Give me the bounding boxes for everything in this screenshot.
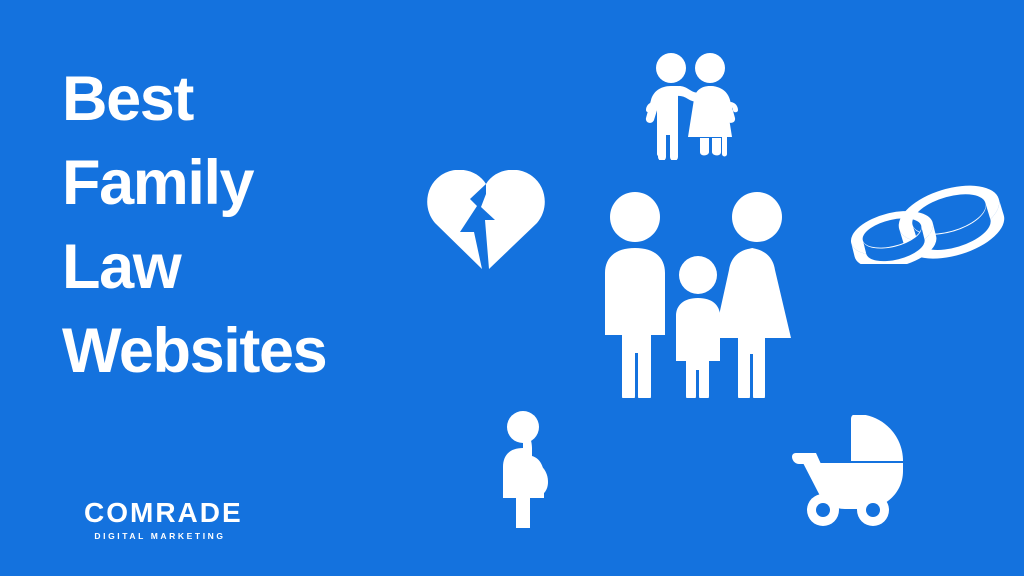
baby-stroller-icon bbox=[787, 415, 903, 527]
broken-heart-icon bbox=[425, 170, 547, 270]
wedding-rings-icon bbox=[845, 176, 1005, 264]
headline-line-1: Best bbox=[62, 57, 422, 141]
logo-wordmark: COMRADE bbox=[84, 498, 234, 528]
page-title: Best Family Law Websites bbox=[62, 57, 422, 393]
headline-line-3: Law bbox=[62, 225, 422, 309]
headline-line-4: Websites bbox=[62, 309, 422, 393]
pregnant-woman-icon bbox=[498, 410, 558, 528]
comrade-logo: COMRADE DIGITAL MARKETING bbox=[84, 498, 234, 543]
headline-line-2: Family bbox=[62, 141, 422, 225]
elderly-couple-icon bbox=[636, 50, 748, 160]
promo-banner: Best Family Law Websites COMRADE DIGITAL… bbox=[0, 0, 1024, 576]
logo-tagline: DIGITAL MARKETING bbox=[86, 529, 234, 543]
family-group-icon bbox=[592, 190, 808, 398]
